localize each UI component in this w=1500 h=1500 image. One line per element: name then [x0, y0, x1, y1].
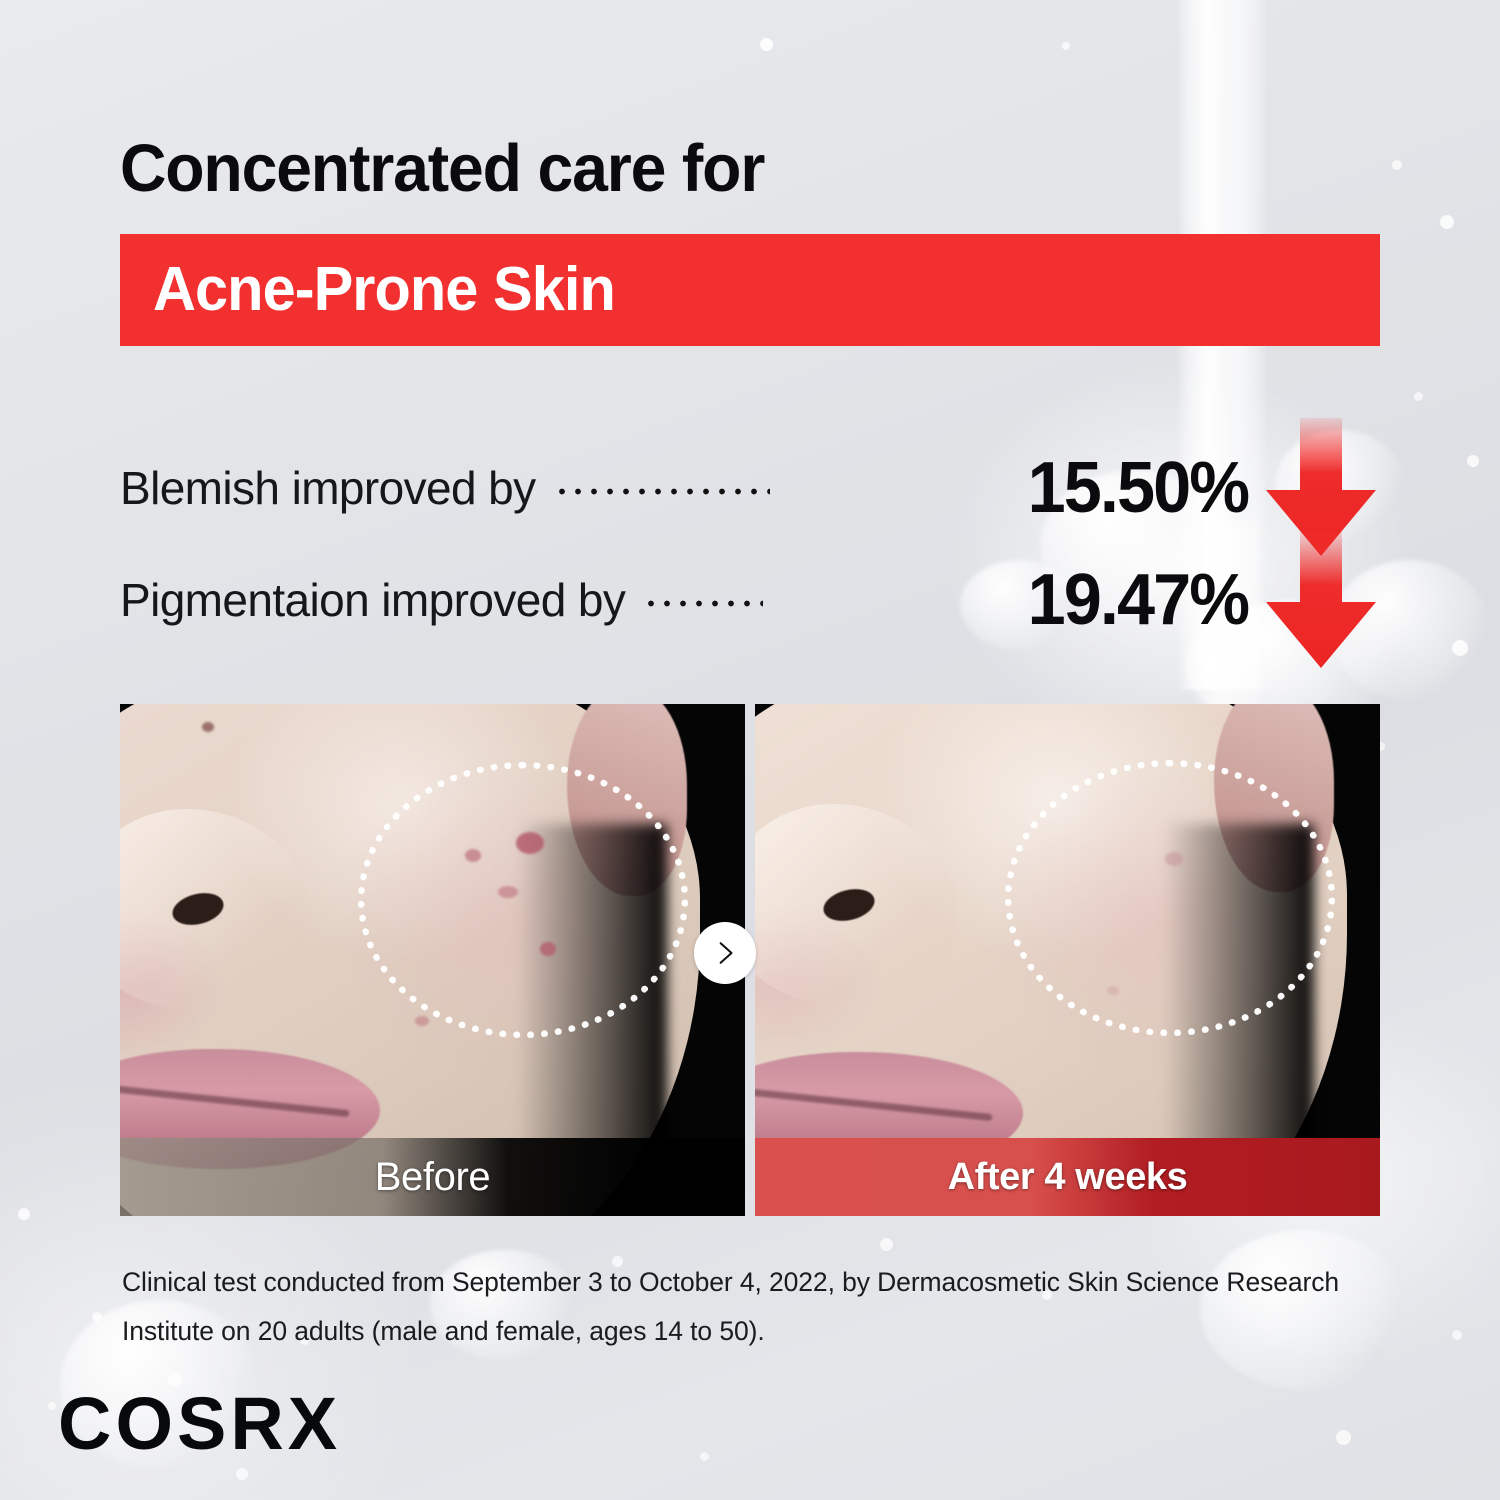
after-photo-panel[interactable]: After 4 weeks	[755, 704, 1380, 1216]
stat-value: 19.47%	[1027, 559, 1248, 641]
brand-logo: COSRX	[58, 1387, 341, 1461]
headline-banner-label: Acne-Prone Skin	[153, 259, 615, 321]
stat-label: Blemish improved by	[120, 461, 536, 515]
bubble-speck-icon	[1212, 676, 1223, 687]
bubble-speck-icon	[236, 1468, 248, 1480]
dotted-ellipse-marker	[358, 762, 688, 1038]
before-photo-panel[interactable]: Before	[120, 704, 745, 1216]
promo-image-root: Concentrated care for Acne-Prone Skin Bl…	[0, 0, 1500, 1500]
bubble-speck-icon	[1467, 455, 1479, 467]
dotted-ellipse-marker	[1005, 760, 1335, 1036]
stat-label: Pigmentaion improved by	[120, 573, 625, 627]
stat-row: Pigmentaion improved by 19.47%	[120, 544, 1380, 656]
bubble-speck-icon	[1440, 215, 1454, 229]
headline-banner: Acne-Prone Skin	[120, 234, 1380, 346]
bubble-speck-icon	[48, 1402, 56, 1410]
clinical-test-footnote: Clinical test conducted from September 3…	[122, 1258, 1352, 1356]
after-caption-label: After 4 weeks	[948, 1156, 1188, 1199]
bubble-speck-icon	[880, 1238, 893, 1251]
blemish-spot	[415, 1016, 429, 1026]
stat-row: Blemish improved by 15.50%	[120, 432, 1380, 544]
before-caption-label: Before	[375, 1155, 490, 1200]
bubble-speck-icon	[1452, 1330, 1462, 1340]
dotted-leader-icon	[554, 487, 770, 496]
bubble-speck-icon	[92, 1312, 102, 1322]
stat-value: 15.50%	[1027, 447, 1248, 529]
bubble-speck-icon	[760, 38, 773, 51]
bubble-speck-icon	[1452, 640, 1468, 656]
page-title: Concentrated care for	[120, 135, 764, 202]
bubble-speck-icon	[1336, 1430, 1351, 1445]
before-caption-bar: Before	[120, 1138, 745, 1216]
blemish-spot	[202, 722, 214, 732]
bubble-speck-icon	[18, 1208, 30, 1220]
bubble-speck-icon	[1062, 42, 1070, 50]
stats-list: Blemish improved by 15.50%	[120, 432, 1380, 656]
chevron-right-icon[interactable]	[694, 922, 756, 984]
bubble-speck-icon	[1392, 160, 1402, 170]
bubble-speck-icon	[700, 1452, 709, 1461]
dotted-leader-icon	[643, 599, 763, 608]
after-caption-bar: After 4 weeks	[755, 1138, 1380, 1216]
down-arrow-icon	[1262, 530, 1380, 670]
bubble-speck-icon	[1414, 392, 1423, 401]
